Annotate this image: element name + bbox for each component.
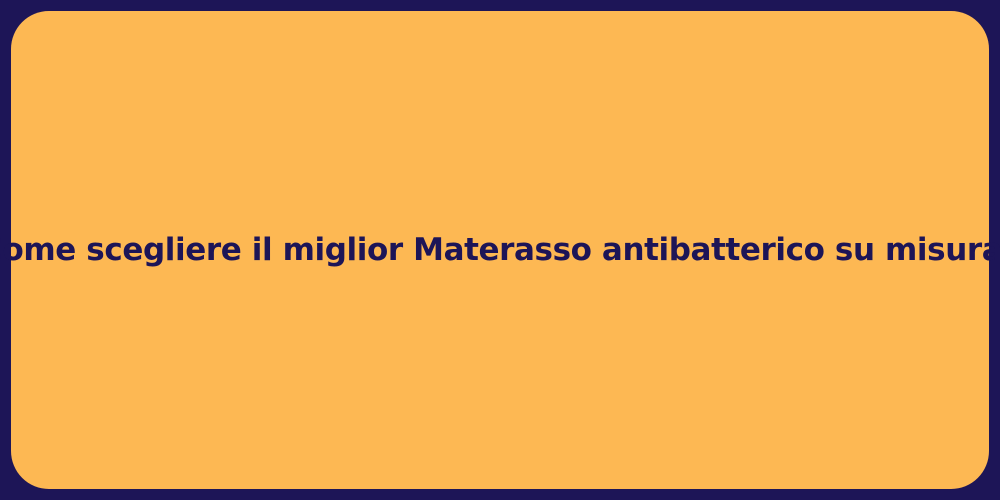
card-panel: Come scegliere il miglior Materasso anti… [11,11,989,489]
page-title: Come scegliere il miglior Materasso anti… [0,231,1000,270]
card-frame: Come scegliere il miglior Materasso anti… [0,0,1000,500]
